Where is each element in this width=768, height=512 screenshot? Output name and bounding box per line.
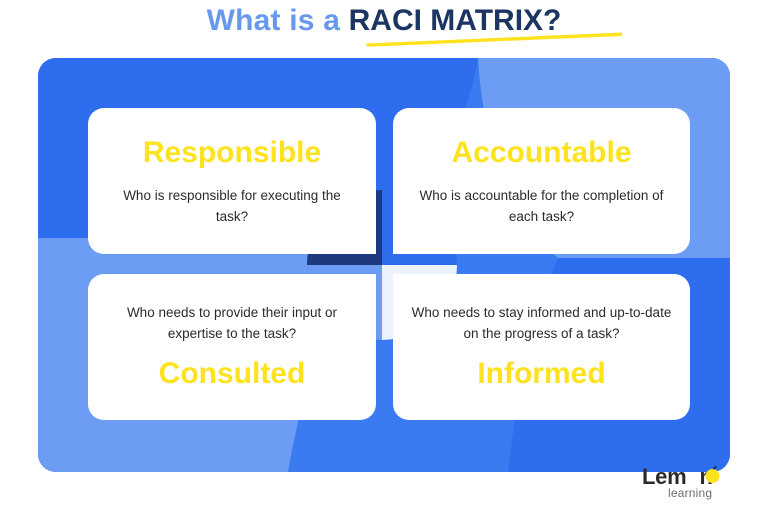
page-title-area: What is a RACI MATRIX? (0, 2, 768, 52)
yellow-swoosh-underline-icon (364, 29, 624, 47)
quadrant-card-responsible[interactable]: Responsible Who is responsible for execu… (88, 108, 376, 254)
quadrant-description-consulted: Who needs to provide their input or expe… (106, 302, 358, 344)
page-title: What is a RACI MATRIX? (207, 2, 562, 40)
page-title-lead: What is a (207, 4, 349, 37)
quadrant-heading-responsible: Responsible (106, 135, 358, 171)
quadrant-description-informed: Who needs to stay informed and up-to-dat… (411, 302, 672, 344)
quadrant-heading-accountable: Accountable (411, 135, 672, 171)
quadrant-card-informed[interactable]: Who needs to stay informed and up-to-dat… (393, 274, 690, 420)
quadrant-card-consulted[interactable]: Who needs to provide their input or expe… (88, 274, 376, 420)
quadrant-card-accountable[interactable]: Accountable Who is accountable for the c… (393, 108, 690, 254)
lemon-icon (703, 465, 722, 484)
logo-subtitle: learning (668, 486, 712, 500)
lemon-learning-logo[interactable]: Lemon learning (642, 462, 752, 504)
quadrant-heading-informed: Informed (411, 356, 672, 392)
quadrant-heading-consulted: Consulted (106, 356, 358, 392)
quadrant-description-responsible: Who is responsible for executing the tas… (106, 185, 358, 227)
quadrant-description-accountable: Who is accountable for the completion of… (411, 185, 672, 227)
